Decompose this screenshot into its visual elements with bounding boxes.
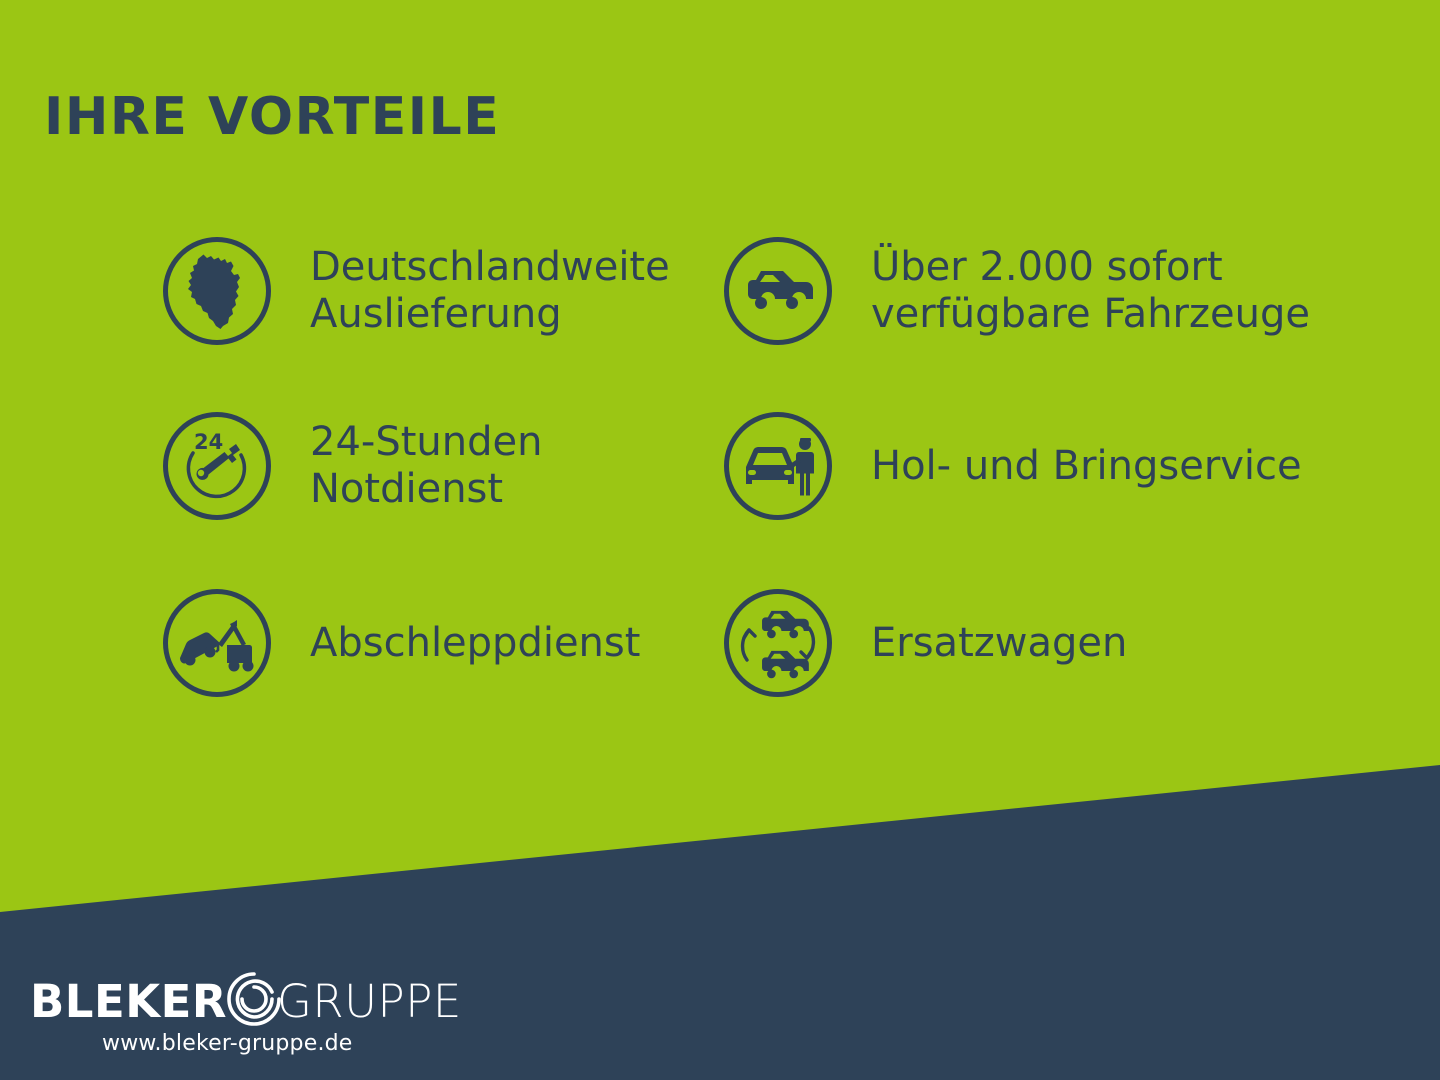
benefit-item-hol-und-bringservice: Hol- und Bringservice	[724, 412, 1302, 520]
car-with-driver-icon	[724, 412, 832, 520]
benefit-label: Hol- und Bringservice	[871, 443, 1302, 490]
slide-root: IHRE VORTEILE Deutschlandweite Ausliefer…	[0, 0, 1440, 1080]
two-cars-exchange-icon	[724, 589, 832, 697]
logo-secondary-text: GRUPPE	[277, 979, 462, 1024]
logo-primary-text: BLEKER	[30, 979, 227, 1024]
tow-truck-icon	[163, 589, 271, 697]
benefit-item-abschleppdienst: Abschleppdienst	[163, 589, 640, 697]
benefit-label: Ersatzwagen	[871, 620, 1127, 667]
benefit-item-deutschlandweite-auslieferung: Deutschlandweite Auslieferung	[163, 237, 670, 345]
spiral-logo-icon	[225, 970, 283, 1032]
benefit-item-24-stunden-notdienst: 24 24-Stunden Notdienst	[163, 412, 542, 520]
benefit-label: 24-Stunden Notdienst	[310, 419, 542, 513]
benefit-label: Über 2.000 sofort verfügbare Fahrzeuge	[871, 244, 1310, 338]
logo-wordmark-row: BLEKER GRUPPE	[30, 975, 462, 1027]
benefit-item-ersatzwagen: Ersatzwagen	[724, 589, 1127, 697]
website-url: www.bleker-gruppe.de	[102, 1031, 353, 1056]
germany-map-icon	[163, 237, 271, 345]
benefit-label: Abschleppdienst	[310, 620, 640, 667]
svg-text:24: 24	[194, 430, 223, 454]
clock-24-wrench-icon: 24	[163, 412, 271, 520]
car-side-icon	[724, 237, 832, 345]
benefit-label: Deutschlandweite Auslieferung	[310, 244, 670, 338]
footer-logo: BLEKER GRUPPE www.bleker-gruppe.de	[30, 975, 462, 1056]
benefits-list: Deutschlandweite Auslieferung Über 2.000…	[0, 0, 1440, 1080]
benefit-item-verfuegbare-fahrzeuge: Über 2.000 sofort verfügbare Fahrzeuge	[724, 237, 1310, 345]
